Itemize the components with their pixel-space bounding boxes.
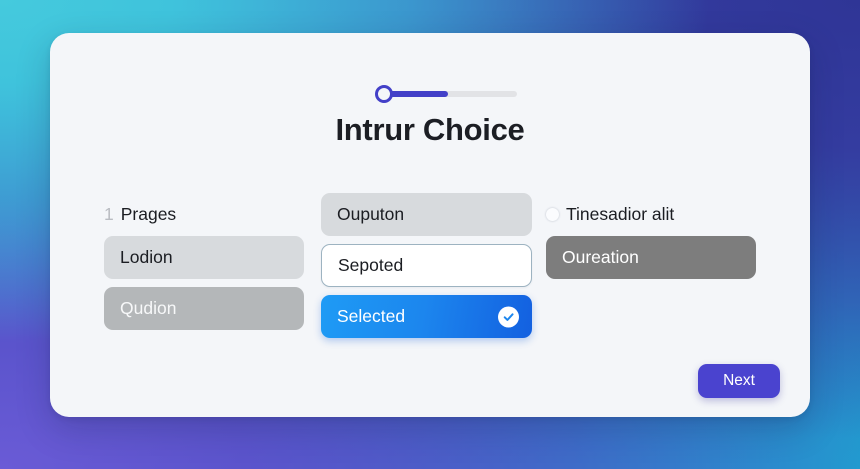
column-right: Tinesadior alit Oureation [546,193,756,287]
progress-handle[interactable] [375,85,393,103]
option-ouputon[interactable]: Ouputon [321,193,532,236]
step-number: 1 [104,204,114,225]
option-selected[interactable]: Selected [321,295,532,338]
option-qudion[interactable]: Qudion [104,287,304,330]
page-title: Intrur Choice [50,112,810,148]
option-lodion[interactable]: Lodion [104,236,304,279]
wizard-card: Intrur Choice 1 Prages Lodion Qudion Oup… [50,33,810,417]
column-center: Ouputon Sepoted Selected [321,193,532,346]
next-button[interactable]: Next [698,364,780,398]
option-label: Selected [337,306,405,327]
column-left: 1 Prages Lodion Qudion [104,193,304,338]
column-left-header-label: Prages [121,204,176,225]
option-oureation[interactable]: Oureation [546,236,756,279]
column-right-header[interactable]: Tinesadior alit [546,193,756,236]
option-label: Qudion [120,298,176,319]
option-label: Ouputon [337,204,404,225]
check-circle-icon [498,306,519,327]
column-left-header: 1 Prages [104,193,304,236]
option-label: Lodion [120,247,173,268]
option-sepoted[interactable]: Sepoted [321,244,532,287]
radio-dot-icon[interactable] [546,208,559,221]
option-label: Oureation [562,247,639,268]
option-label: Sepoted [338,255,403,276]
column-right-header-label: Tinesadior alit [566,204,674,225]
step-progress-bar[interactable] [366,83,519,105]
